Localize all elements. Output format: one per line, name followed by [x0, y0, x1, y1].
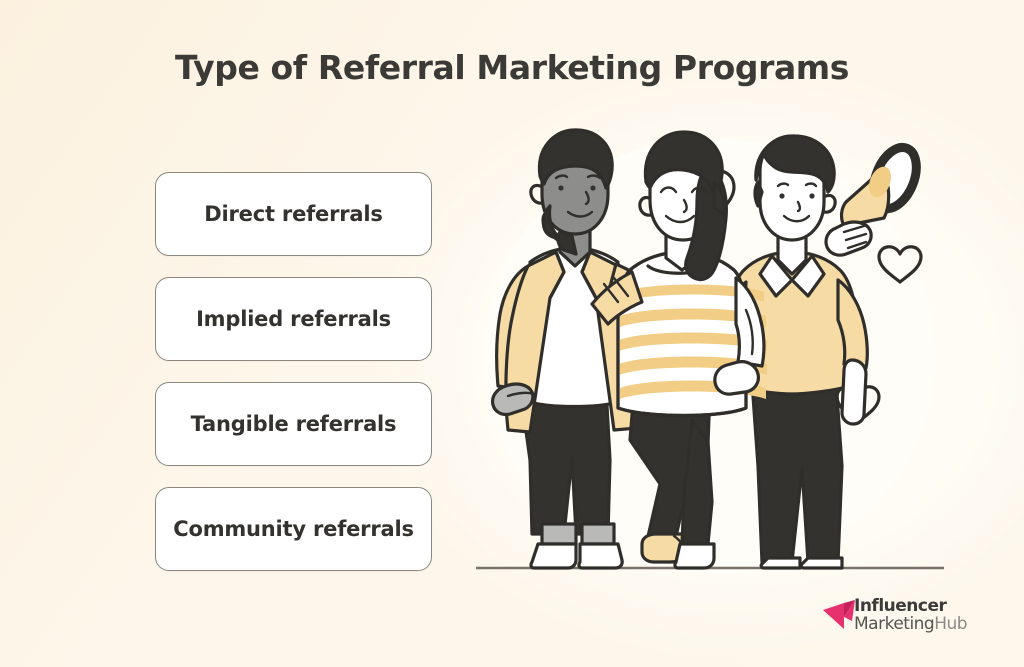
logo-hub: Hub	[934, 614, 967, 634]
illustration-svg: .ol { fill:none; stroke:#2f2e2b; stroke-…	[452, 120, 972, 590]
logo-text: Influencer MarketingHub	[854, 598, 967, 633]
eye	[809, 193, 814, 198]
referral-type-label: Community referrals	[173, 517, 414, 541]
eye	[558, 185, 563, 190]
referral-type-label: Implied referrals	[196, 307, 391, 331]
logo-arrow-icon	[822, 597, 856, 635]
referral-type-card-4[interactable]: Community referrals	[155, 487, 432, 571]
influencer-marketing-hub-logo[interactable]: Influencer MarketingHub	[822, 592, 982, 640]
logo-marketing: Marketing	[854, 614, 934, 634]
three-people-illustration: .ol { fill:none; stroke:#2f2e2b; stroke-…	[452, 120, 972, 590]
referral-type-label: Direct referrals	[204, 202, 382, 226]
logo-line-marketing-hub: MarketingHub	[854, 616, 967, 634]
infographic-canvas: Type of Referral Marketing Programs Dire…	[0, 0, 1024, 667]
page-title: Type of Referral Marketing Programs	[0, 48, 1024, 87]
referral-type-list: Direct referrals Implied referrals Tangi…	[155, 172, 432, 592]
referral-type-label: Tangible referrals	[191, 412, 397, 436]
eye	[779, 193, 784, 198]
referral-type-card-2[interactable]: Implied referrals	[155, 277, 432, 361]
referral-type-card-3[interactable]: Tangible referrals	[155, 382, 432, 466]
referral-type-card-1[interactable]: Direct referrals	[155, 172, 432, 256]
eye	[590, 185, 595, 190]
